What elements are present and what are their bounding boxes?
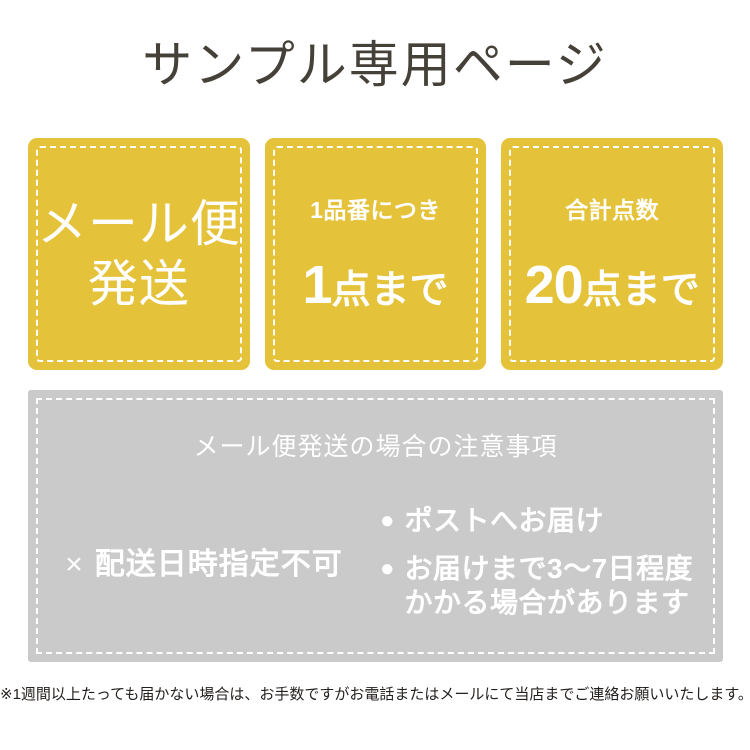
total-limit-unit: 点まで	[583, 269, 700, 312]
bullet-text: ポストへお届け	[405, 504, 605, 538]
bullet-dot-icon: ●	[380, 504, 395, 538]
feature-box-per-item-limit: 1品番につき 1点まで	[265, 138, 487, 370]
per-item-limit-number: 1	[302, 255, 331, 315]
shipping-method-content: メール便 発送	[28, 194, 250, 314]
bullet-dot-icon: ●	[380, 552, 395, 586]
footer-note: ※1週間以上たっても届かない場合は、お手数ですがお電話またはメールにて当店までご…	[0, 684, 750, 706]
bullet-text: お届けまで3〜7日程度 かかる場合があります	[405, 552, 694, 620]
sample-info-page: サンプル専用ページ メール便 発送 1品番につき 1点まで 合計点数	[0, 0, 750, 750]
notice-heading: メール便発送の場合の注意事項	[28, 432, 723, 462]
total-limit-number: 20	[525, 255, 583, 315]
shipping-method-line2: 発送	[28, 254, 250, 314]
bullet-line1: ポストへお届け	[405, 505, 605, 536]
notice-body: × 配送日時指定不可 ● ポストへお届け ● お届けまで3〜7日程度 かかる場合…	[28, 500, 723, 650]
bullet-line1: お届けまで3〜7日程度	[405, 553, 694, 584]
per-item-limit-content: 1品番につき 1点まで	[265, 196, 487, 312]
list-item: ● お届けまで3〜7日程度 かかる場合があります	[380, 552, 723, 620]
notice-panel: メール便発送の場合の注意事項 × 配送日時指定不可 ● ポストへお届け ● お届…	[28, 390, 723, 662]
bullet-line2: かかる場合があります	[405, 586, 694, 620]
per-item-limit-unit: 点まで	[332, 269, 449, 312]
total-limit-content: 合計点数 20点まで	[501, 196, 723, 312]
total-limit-caption: 合計点数	[501, 196, 723, 224]
per-item-limit-amount: 1点まで	[265, 258, 487, 312]
delivery-date-restriction-label: 配送日時指定不可	[95, 550, 343, 580]
cross-mark-icon: ×	[65, 550, 83, 580]
delivery-bullet-list: ● ポストへお届け ● お届けまで3〜7日程度 かかる場合があります	[380, 500, 723, 620]
feature-box-row: メール便 発送 1品番につき 1点まで 合計点数 20点まで	[28, 138, 723, 370]
total-limit-amount: 20点まで	[501, 258, 723, 312]
delivery-date-restriction: × 配送日時指定不可	[28, 500, 380, 630]
per-item-limit-caption: 1品番につき	[265, 196, 487, 224]
list-item: ● ポストへお届け	[380, 504, 723, 538]
feature-box-shipping-method: メール便 発送	[28, 138, 250, 370]
page-title: サンプル専用ページ	[0, 36, 750, 94]
shipping-method-line1: メール便	[28, 194, 250, 254]
feature-box-total-limit: 合計点数 20点まで	[501, 138, 723, 370]
